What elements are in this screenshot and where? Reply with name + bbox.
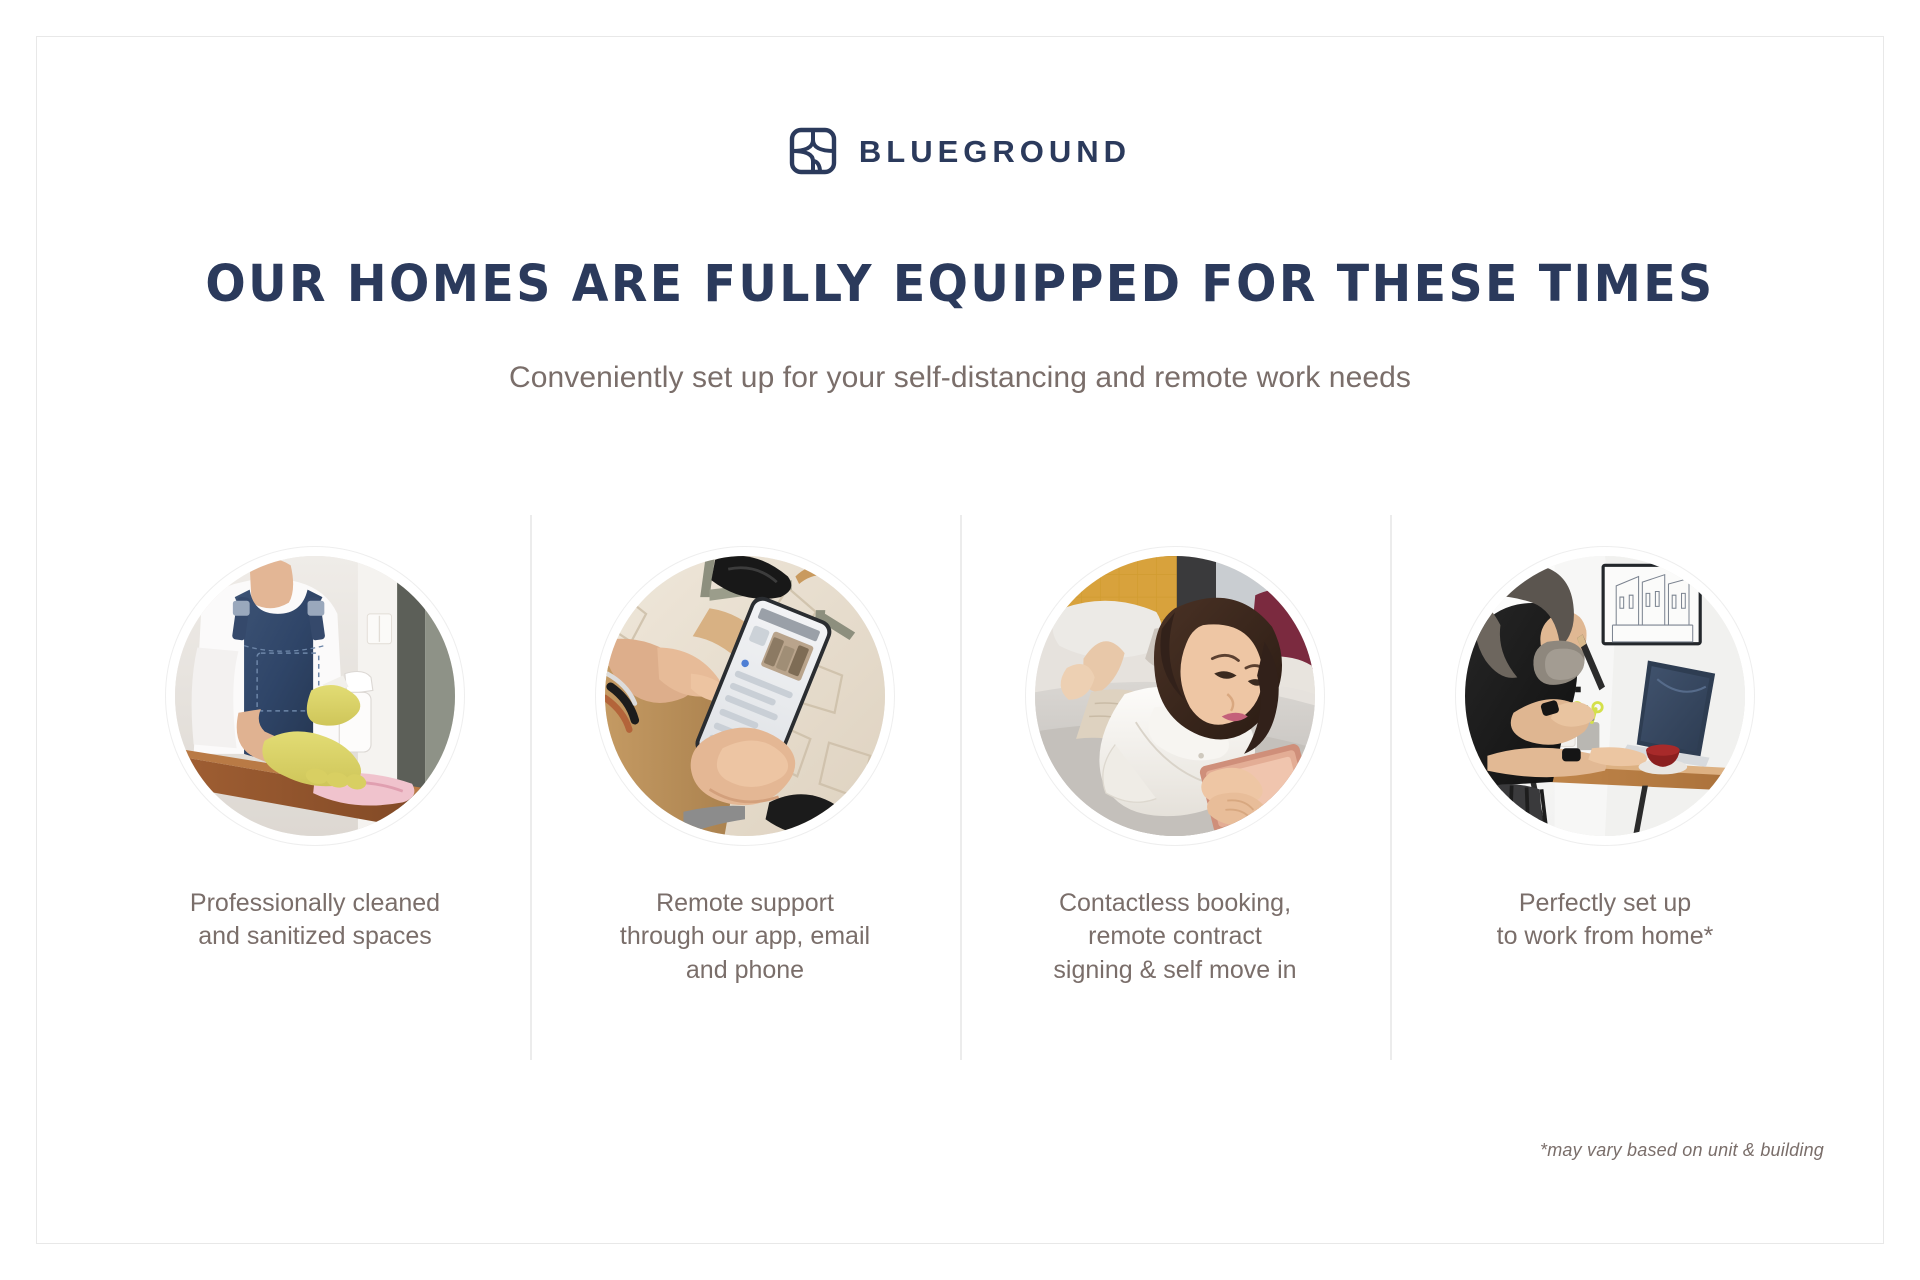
feature-item-remote-support: Remote support through our app, email an… xyxy=(530,515,960,1060)
feature-columns: Professionally cleaned and sanitized spa… xyxy=(100,515,1820,1060)
feature-photo-cleaning xyxy=(175,556,455,836)
brand-wordmark: BLUEGROUND xyxy=(859,136,1131,167)
feature-image-ring-contactless-booking xyxy=(1025,546,1325,846)
feature-image-ring-remote-support xyxy=(595,546,895,846)
feature-photo-remote-support xyxy=(605,556,885,836)
feature-caption: Professionally cleaned and sanitized spa… xyxy=(150,887,480,954)
brand-logo: BLUEGROUND xyxy=(0,127,1920,175)
feature-item-contactless-booking: Contactless booking, remote contract sig… xyxy=(960,515,1390,1060)
feature-caption: Contactless booking, remote contract sig… xyxy=(1010,887,1340,987)
infographic-page: BLUEGROUND OUR HOMES ARE FULLY EQUIPPED … xyxy=(0,0,1920,1280)
feature-item-work-from-home: Perfectly set up to work from home* xyxy=(1390,515,1820,1060)
feature-photo-work-from-home xyxy=(1465,556,1745,836)
feature-item-cleaning: Professionally cleaned and sanitized spa… xyxy=(100,515,530,1060)
feature-image-ring-cleaning xyxy=(165,546,465,846)
feature-photo-contactless-booking xyxy=(1035,556,1315,836)
feature-caption: Perfectly set up to work from home* xyxy=(1440,887,1770,954)
feature-caption: Remote support through our app, email an… xyxy=(580,887,910,987)
page-title: OUR HOMES ARE FULLY EQUIPPED FOR THESE T… xyxy=(67,258,1853,312)
feature-image-ring-work-from-home xyxy=(1455,546,1755,846)
footnote-disclaimer: *may vary based on unit & building xyxy=(1540,1140,1824,1161)
blueground-mark-icon xyxy=(789,127,837,175)
page-subtitle: Conveniently set up for your self-distan… xyxy=(0,358,1920,397)
